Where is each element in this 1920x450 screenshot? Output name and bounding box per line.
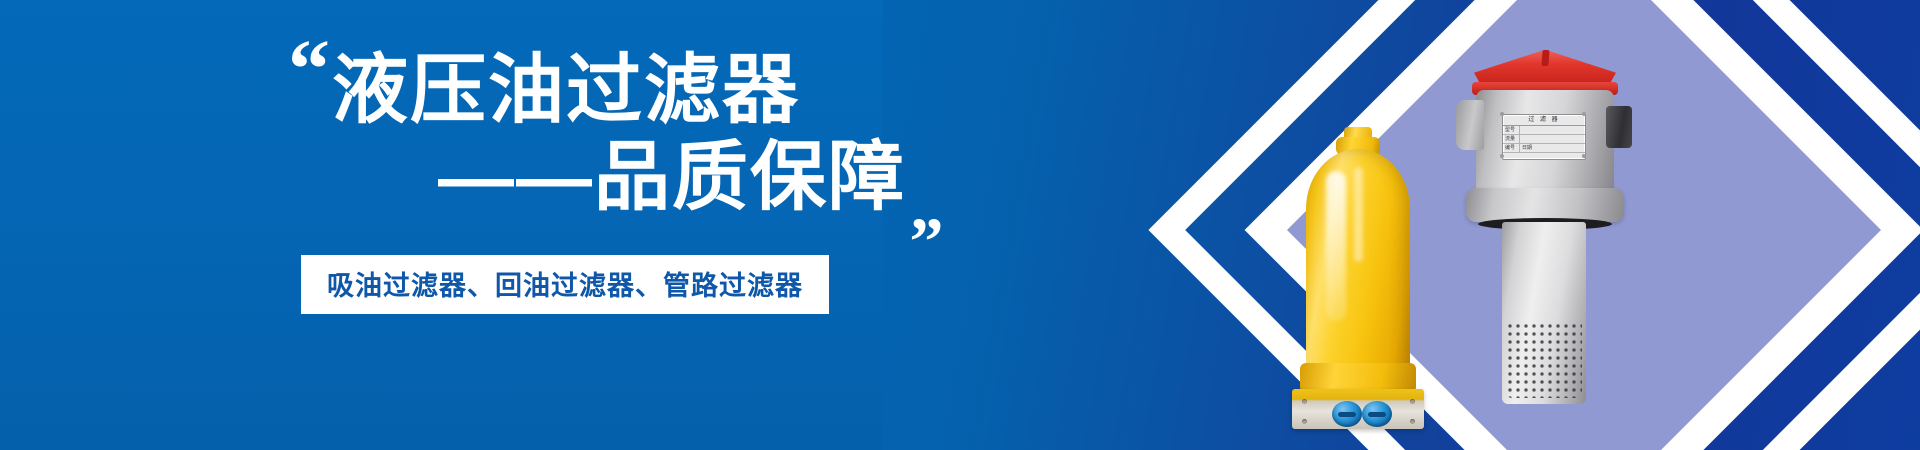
gray-filter-product-image: 过 滤 器 型号 流量 编号 日期 (1450, 48, 1640, 408)
nameplate-row: 编号 日期 (1503, 144, 1585, 153)
yellow-filter-port-slot (1368, 412, 1386, 417)
nameplate-key: 型号 (1503, 126, 1520, 134)
gray-filter-side-boss-left (1456, 100, 1484, 150)
nameplate-value (1520, 135, 1585, 143)
yellow-filter-highlight-secondary (1354, 167, 1363, 262)
yellow-filter-product-image (1292, 127, 1424, 432)
product-photo-panel: 过 滤 器 型号 流量 编号 日期 (1150, 0, 1920, 450)
subtitle-text: 吸油过滤器、回油过滤器、管路过滤器 (327, 271, 803, 301)
yellow-filter-bolt (1302, 419, 1307, 424)
headline-line-2: ——品质保障 (438, 135, 906, 220)
nameplate-screw (1582, 154, 1586, 158)
yellow-filter-bolt (1410, 419, 1415, 424)
nameplate-screw (1582, 112, 1586, 116)
nameplate-row: 型号 (1503, 126, 1585, 135)
nameplate-key: 流量 (1503, 135, 1520, 143)
open-quote-icon: “ (288, 28, 330, 112)
banner-text-block: “ 液压油过滤器 ——品质保障„ 吸油过滤器、回油过滤器、管路过滤器 (0, 0, 1000, 450)
nameplate-screw (1500, 112, 1504, 116)
subtitle-panel: 吸油过滤器、回油过滤器、管路过滤器 (301, 255, 829, 314)
nameplate-title: 过 滤 器 (1503, 115, 1585, 126)
yellow-filter-port (1332, 401, 1362, 427)
gray-filter-mounting-flange (1466, 188, 1624, 222)
yellow-filter-highlight (1326, 171, 1346, 321)
product-banner: 过 滤 器 型号 流量 编号 日期 (0, 0, 1920, 450)
yellow-filter-bolt (1302, 399, 1307, 404)
nameplate-screw (1500, 154, 1504, 158)
gray-filter-perforations (1506, 322, 1582, 398)
gray-filter-side-boss-right (1606, 106, 1632, 148)
nameplate-row: 流量 (1503, 135, 1585, 144)
gray-filter-cap-notch (1541, 50, 1549, 66)
yellow-filter-bolt (1410, 399, 1415, 404)
headline-line-2-wrap: ——品质保障„ (332, 135, 952, 246)
nameplate-value (1520, 126, 1585, 134)
yellow-filter-port-slot (1338, 412, 1356, 417)
close-quote-icon: „ (910, 168, 946, 246)
headline: 液压油过滤器 ——品质保障„ (332, 48, 952, 245)
gray-filter-strainer-basket (1502, 222, 1586, 404)
yellow-filter-port (1362, 401, 1392, 427)
nameplate-value: 日期 (1520, 144, 1585, 152)
gray-filter-nameplate: 过 滤 器 型号 流量 编号 日期 (1502, 114, 1586, 160)
nameplate-key: 编号 (1503, 144, 1520, 152)
headline-line-1: 液压油过滤器 (332, 48, 952, 135)
